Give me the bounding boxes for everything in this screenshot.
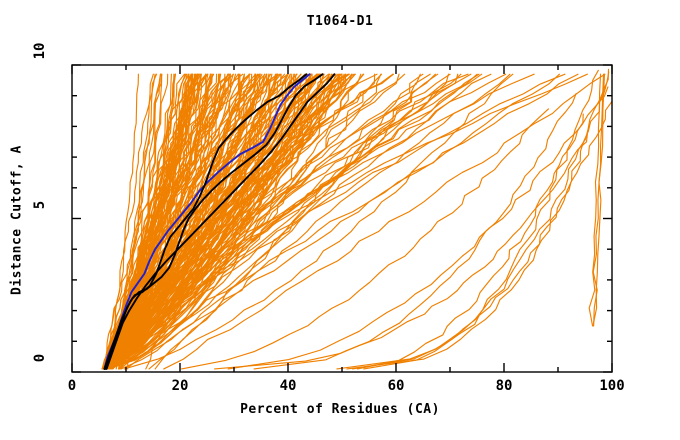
y-tick-label: 0 [32,354,48,362]
x-tick-label: 0 [68,378,76,394]
x-tick-label: 100 [599,378,624,394]
y-tick-label: 10 [32,43,48,60]
x-tick-label: 80 [496,378,513,394]
x-tick-label: 40 [280,378,297,394]
x-tick-label: 20 [172,378,189,394]
x-tick-label: 60 [388,378,405,394]
plot-area [0,0,680,440]
ensemble-curve [353,70,599,369]
chart-container: T1064-D1 Distance Cutoff, A Percent of R… [0,0,680,440]
y-tick-label: 5 [32,200,48,208]
